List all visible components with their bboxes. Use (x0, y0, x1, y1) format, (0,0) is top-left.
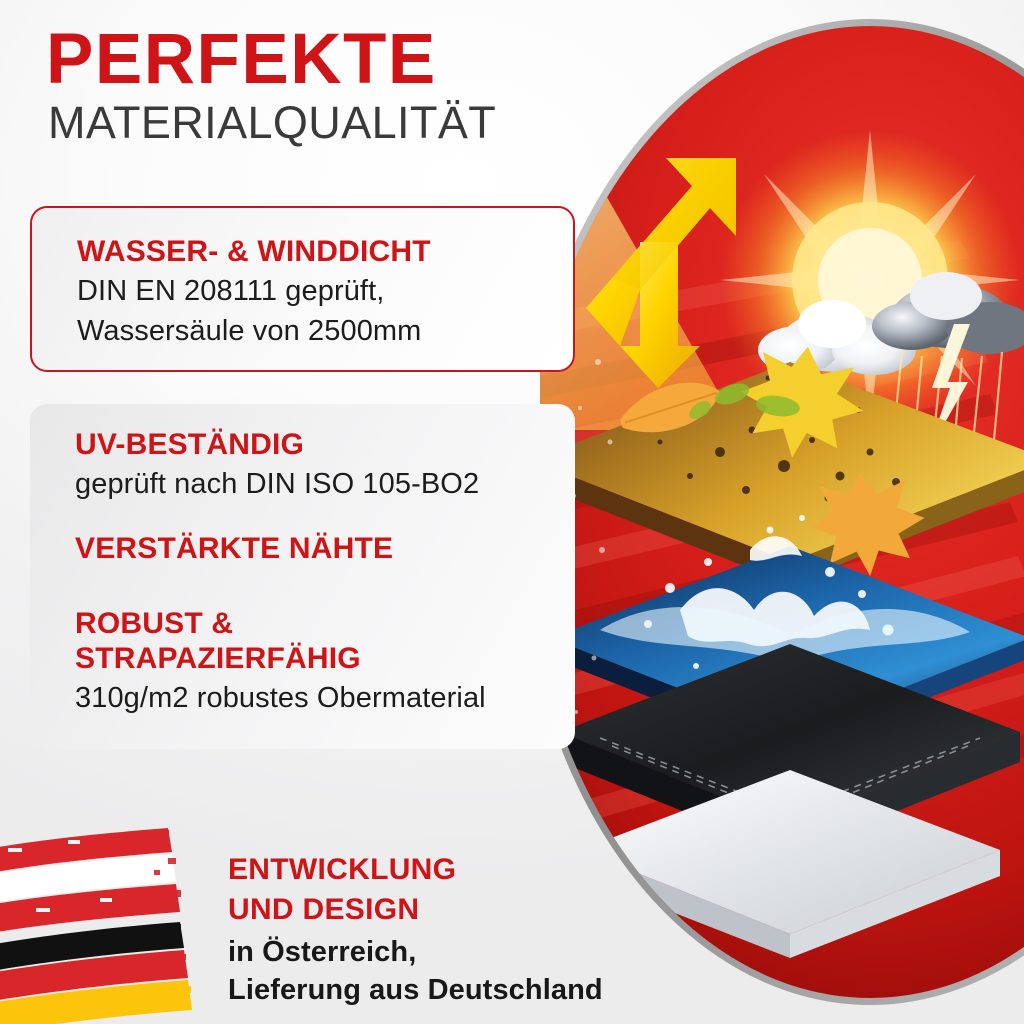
feature-card-waterproof: WASSER- & WINDDICHT DIN EN 208111 geprüf… (30, 206, 575, 372)
origin-red-line: ENTWICKLUNG (228, 850, 603, 890)
page-subtitle: MATERIALQUALITÄT (48, 100, 496, 145)
origin-note: ENTWICKLUNG UND DESIGN in Österreich, Li… (228, 850, 603, 1010)
feature-card-group: UV-BESTÄNDIG geprüft nach DIN ISO 105-BO… (30, 404, 575, 749)
dirt-particles (658, 376, 901, 502)
feature-desc-line: geprüft nach DIN ISO 105-BO2 (75, 466, 479, 503)
leaf-icon (804, 464, 931, 583)
sun-icon (720, 130, 1020, 430)
fabric-layer-black (560, 644, 1020, 854)
feature-title: UV-BESTÄNDIG (75, 428, 479, 463)
sun-rays (720, 130, 1020, 430)
feature-desc-line: Wassersäule von 2500mm (77, 313, 431, 350)
stitch-seam (600, 738, 980, 818)
feature-desc-line: DIN EN 208111 geprüft, (77, 273, 431, 310)
storm-cloud-lightning-icon (872, 272, 1024, 456)
headline-block: PERFEKTE MATERIALQUALITÄT (46, 26, 496, 145)
origin-dark-line: in Österreich, (228, 934, 603, 972)
feature-title: STRAPAZIERFÄHIG (75, 642, 486, 677)
water-splash-icon (644, 515, 894, 694)
feature-desc-line: 310g/m2 robustes Obermaterial (75, 680, 486, 717)
leaf-icon (615, 371, 727, 444)
infographic-root: PERFEKTE MATERIALQUALITÄT WASSER- & WIND… (0, 0, 1024, 1024)
weather-circle-disc (540, 26, 1024, 998)
austria-flag-icon (0, 828, 181, 936)
rain-streaks (894, 352, 1002, 446)
origin-dark-line: Lieferung aus Deutschland (228, 972, 603, 1010)
feature-text-group: VERSTÄRKTE NÄHTE (75, 532, 393, 567)
feature-text-group: ROBUST & STRAPAZIERFÄHIG 310g/m2 robuste… (75, 607, 486, 717)
weather-circle-rim (540, 19, 1024, 1005)
layer-water (550, 515, 1024, 752)
leaf-icon (734, 340, 869, 464)
green-grass-bits (686, 379, 801, 422)
lightning-bolt-icon (926, 324, 970, 456)
product-artwork (540, 0, 1024, 1024)
cloud-icon (758, 300, 916, 375)
feature-title: VERSTÄRKTE NÄHTE (75, 532, 393, 567)
origin-red-line: UND DESIGN (228, 890, 603, 930)
flags-brushstroke-group (0, 828, 195, 1024)
page-title: PERFEKTE (46, 26, 496, 94)
red-texture-streaks (540, 240, 1024, 912)
feature-text-group: UV-BESTÄNDIG geprüft nach DIN ISO 105-BO… (75, 428, 479, 503)
germany-flag-icon (0, 922, 192, 1024)
layer-top-debris (540, 340, 1024, 584)
feature-title: ROBUST & (75, 607, 486, 642)
feature-title: WASSER- & WINDDICHT (77, 235, 431, 270)
fabric-layer-white (580, 770, 1000, 958)
uv-deflect-arrow-icon (586, 158, 736, 388)
feature-text-group: WASSER- & WINDDICHT DIN EN 208111 geprüf… (77, 235, 431, 350)
